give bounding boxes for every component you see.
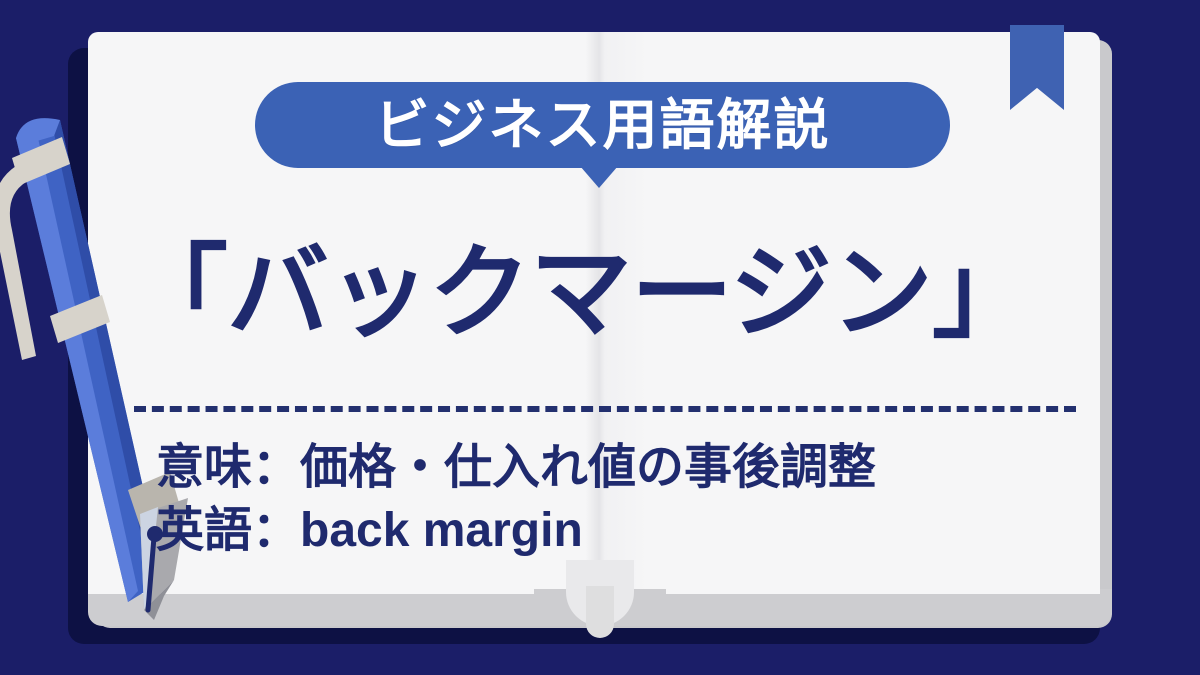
category-badge: ビジネス用語解説 [255,82,950,168]
definition-block: 意味：価格・仕入れ値の事後調整 英語：back margin [156,436,1056,563]
definition-english-line: 英語：back margin [156,499,1056,562]
definition-meaning-line: 意味：価格・仕入れ値の事後調整 [156,436,1056,499]
page-title: 「バックマージン」 [126,236,1056,350]
category-badge-label: ビジネス用語解説 [374,98,830,153]
category-badge-tail [580,166,618,188]
dashed-divider [134,406,1076,412]
slide-canvas: ビジネス用語解説 「バックマージン」 意味：価格・仕入れ値の事後調整 英語：ba… [0,0,1200,675]
book-spine-dip-inner [586,586,614,638]
